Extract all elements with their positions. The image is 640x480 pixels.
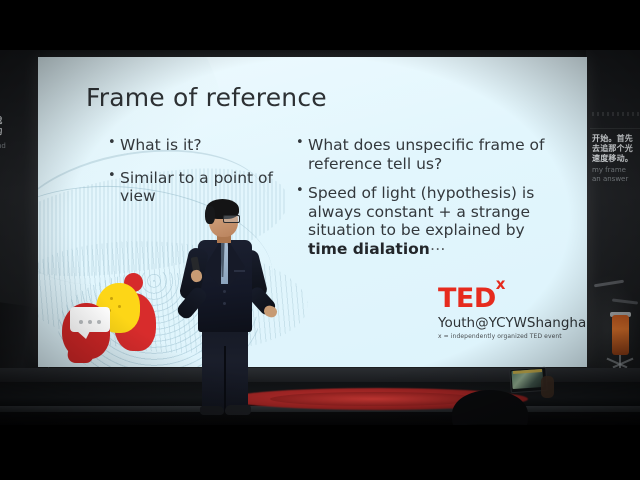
jacket-button-2	[223, 302, 226, 305]
bullet-text-prefix: Speed of light (hypothesis) is always co…	[308, 184, 534, 239]
graphic-head-neck	[66, 341, 96, 363]
red-carpet-highlight	[270, 392, 480, 406]
video-frame: 开始。首先 去追那个光 速度移动。 my frame an answer 果我 …	[0, 0, 640, 480]
speaker-right-hand	[263, 304, 279, 319]
bubble-dot-1	[79, 320, 83, 324]
slide-right-column: What does unspecific frame of reference …	[296, 136, 564, 270]
jacket-pocket	[234, 270, 245, 272]
ted-letters: TED	[438, 283, 496, 314]
tedx-wordmark: TEDx	[438, 285, 587, 312]
tedx-disclaimer: x = independently organized TED event	[438, 333, 587, 340]
wall-text-left-cn-1: 果我	[0, 116, 2, 126]
x-superscript: x	[496, 275, 505, 293]
wall-text-cn-3: 速度移动。	[592, 154, 633, 164]
slide-bullet: What is it?	[108, 136, 283, 155]
letterbox-bottom	[0, 425, 640, 480]
wall-text-cn-2: 去追那个光	[592, 144, 633, 154]
speaker-left-shoe	[200, 406, 224, 415]
bubble-dot-2	[88, 320, 92, 324]
speaker-hair-side	[205, 206, 215, 224]
bubble-dot-3	[97, 320, 101, 324]
slide-head-graphic	[58, 279, 152, 357]
drum-body	[612, 315, 629, 355]
wall-dotted-header	[592, 112, 640, 116]
stage-photo: 开始。首先 去追那个光 速度移动。 my frame an answer 果我 …	[0, 50, 640, 425]
wall-text-cn-1: 开始。首先	[592, 134, 633, 144]
speech-bubble-icon	[70, 307, 110, 332]
slide-title: Frame of reference	[86, 83, 327, 112]
bullet-text-suffix: ⋯	[430, 240, 447, 258]
jacket-button-1	[223, 290, 226, 293]
audience-member-hand	[541, 376, 554, 398]
wall-text-en-2: an answer	[592, 175, 628, 184]
speaker-leg-seam	[224, 346, 226, 412]
wall-text-left-en-1: d and	[0, 142, 6, 151]
tedx-event-name: Youth@YCYWShanghai	[438, 315, 587, 331]
wall-text-left-cn-2: 样的	[0, 127, 2, 137]
letterbox-top	[0, 0, 640, 50]
glasses-icon	[223, 215, 240, 223]
wall-text-en-1: my frame	[592, 166, 626, 175]
wall-divider-line	[590, 128, 640, 129]
speaker-right-shoe	[225, 405, 251, 415]
graphic-spark-1	[110, 297, 113, 300]
projected-slide: Frame of reference What is it? Similar t…	[38, 57, 587, 367]
bullet-text-bold: time dialation	[308, 240, 430, 258]
speaker-figure	[178, 198, 278, 423]
tedx-logo-lockup: TEDx Youth@YCYWShanghai x = independentl…	[438, 285, 587, 340]
slide-bullet-rich: Speed of light (hypothesis) is always co…	[296, 184, 564, 258]
slide-bullet: What does unspecific frame of reference …	[296, 136, 564, 173]
graphic-spark-2	[118, 305, 121, 308]
stage-floor	[0, 412, 640, 425]
